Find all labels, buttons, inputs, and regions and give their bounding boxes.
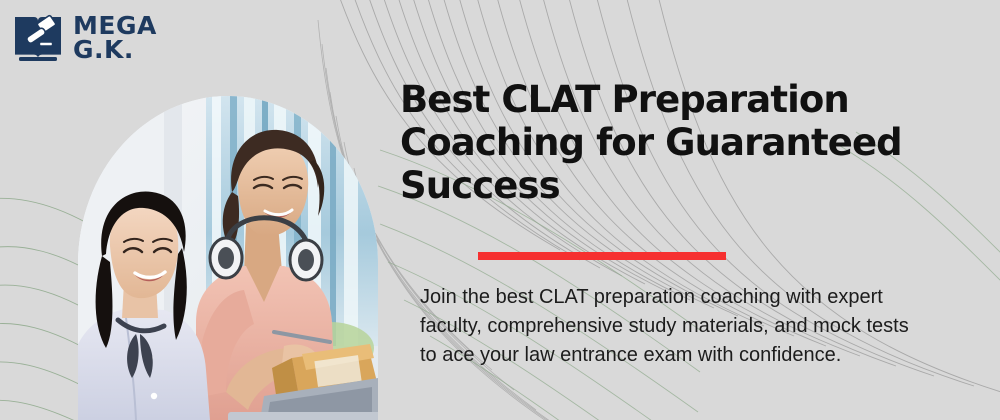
hero-content: Best CLAT Preparation Coaching for Guara… bbox=[400, 0, 960, 420]
red-divider bbox=[478, 252, 726, 260]
logo-text-line2: G.K. bbox=[73, 38, 157, 62]
page-title: Best CLAT Preparation Coaching for Guara… bbox=[400, 78, 960, 207]
logo[interactable]: MEGA G.K. bbox=[12, 10, 157, 66]
hero-banner: MEGA G.K. bbox=[0, 0, 1000, 420]
hero-photo-image bbox=[78, 96, 378, 420]
open-book-gavel-icon bbox=[12, 10, 64, 66]
hero-description: Join the best CLAT preparation coaching … bbox=[420, 283, 920, 370]
hero-photo bbox=[78, 96, 378, 420]
